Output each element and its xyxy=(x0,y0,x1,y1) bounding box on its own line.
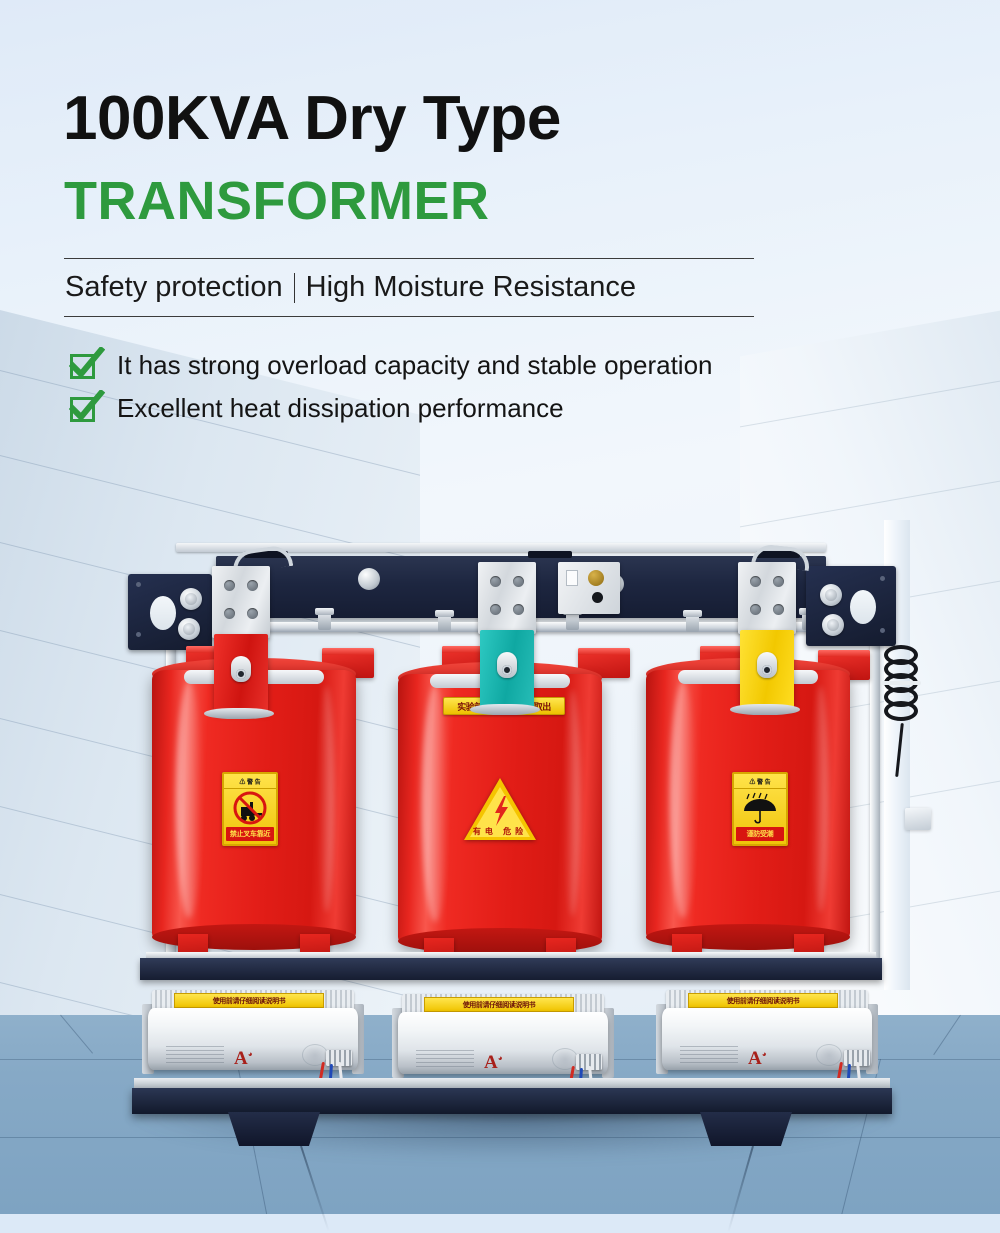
no-forklift-warning-label: ⚠ 警 告 禁止叉车靠近 xyxy=(222,772,278,846)
page-title: 100KVA Dry Type xyxy=(63,88,561,150)
lv-wiring-phase-b xyxy=(570,1042,630,1082)
lv-module-strip-text: 使用前请仔细阅读说明书 xyxy=(463,1000,536,1010)
right-end-bracket xyxy=(806,566,896,646)
tagline: Safety protection High Moisture Resistan… xyxy=(65,272,636,304)
check-icon xyxy=(70,395,98,423)
left-end-bracket xyxy=(128,574,212,650)
warning-label-footer: 禁止叉车靠近 xyxy=(226,827,274,841)
base-beam xyxy=(132,1088,892,1114)
lv-wiring-phase-a xyxy=(320,1038,380,1078)
umbrella-icon xyxy=(734,789,786,827)
support-post-right xyxy=(870,604,880,966)
lv-module-mark: A xyxy=(234,1048,248,1069)
tap-changer-plate xyxy=(558,562,620,614)
beam-bolt xyxy=(438,614,451,632)
bullet-text: Excellent heat dissipation performance xyxy=(117,393,564,424)
base-shadow-line xyxy=(727,1146,754,1233)
base-foot-left xyxy=(228,1112,320,1146)
tagline-left: Safety protection xyxy=(65,272,283,304)
hazard-label-text: 有电 危险 xyxy=(464,826,536,837)
warning-label-header: ⚠ 警 告 xyxy=(224,774,276,789)
hv-cable-coil xyxy=(884,645,918,729)
page-subtitle: TRANSFORMER xyxy=(64,174,489,228)
tagline-separator xyxy=(294,273,295,303)
lv-module-strip-text: 使用前请仔细阅读说明书 xyxy=(727,996,800,1006)
list-item: It has strong overload capacity and stab… xyxy=(70,344,713,387)
check-icon xyxy=(70,352,98,380)
base-shadow-line xyxy=(300,1146,330,1232)
no-forklift-icon xyxy=(224,789,276,827)
feature-bullet-list: It has strong overload capacity and stab… xyxy=(70,344,713,430)
list-item: Excellent heat dissipation performance xyxy=(70,387,713,430)
lv-module-strip-text: 使用前请仔细阅读说明书 xyxy=(213,996,286,1006)
lv-module-mark: A xyxy=(748,1048,762,1069)
warning-label-header: ⚠ 警 告 xyxy=(734,774,786,789)
beam-bolt xyxy=(566,612,579,630)
lv-wiring-phase-c xyxy=(838,1038,898,1078)
tagline-divider-bottom xyxy=(64,316,754,317)
keep-dry-warning-label: ⚠ 警 告 谨防受潮 xyxy=(732,772,788,846)
bullet-text: It has strong overload capacity and stab… xyxy=(117,350,713,381)
tagline-right: High Moisture Resistance xyxy=(306,272,636,304)
base-foot-right xyxy=(700,1112,792,1146)
warning-label-footer: 谨防受潮 xyxy=(736,827,784,841)
lv-module-mark: A xyxy=(484,1052,498,1073)
electrical-hazard-label: 有电 危险 xyxy=(464,778,536,840)
beam-bolt xyxy=(686,614,699,632)
tagline-divider-top xyxy=(64,258,754,259)
beam-bolt xyxy=(318,612,331,630)
mid-deck-beam xyxy=(140,958,882,980)
